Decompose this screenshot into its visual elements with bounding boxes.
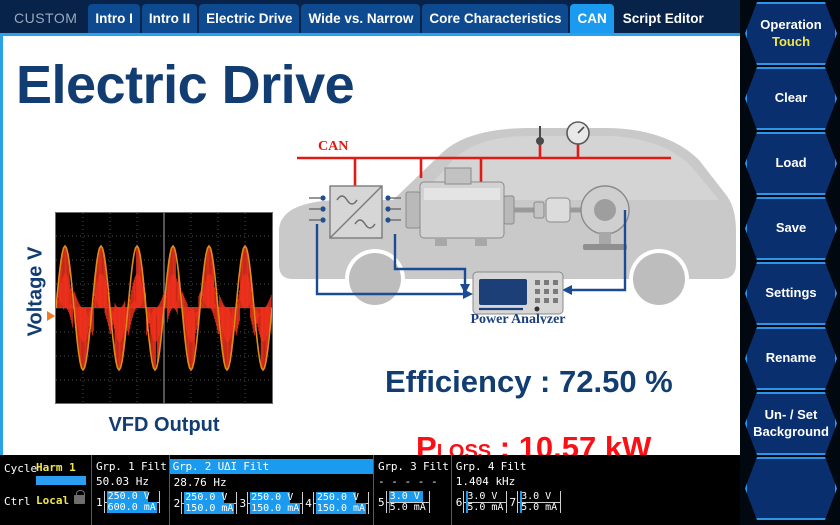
softkey-clear[interactable]: Clear (745, 67, 837, 130)
status-control-column: Cycle Harm 1 Ctrl Local (0, 455, 92, 525)
channel-1-number: 1 (96, 496, 104, 509)
status-bar: Cycle Harm 1 Ctrl Local Grp. 1 Filt 50.0… (0, 455, 740, 525)
tab-intro-i[interactable]: Intro I (88, 4, 140, 34)
softkey-save[interactable]: Save (745, 197, 837, 260)
softkey-settings[interactable]: Settings (745, 262, 837, 325)
softkey-settings-label: Settings (765, 285, 816, 301)
front-wheel-icon (349, 253, 401, 305)
channel-4-bars: 250.0 V 150.0 mA (313, 492, 369, 514)
tab-bar: CUSTOM Intro I Intro II Electric Drive W… (0, 0, 740, 34)
channel-6[interactable]: 6 3.0 V 5.0 mA (456, 491, 508, 513)
channel-2-number: 2 (174, 497, 182, 510)
softkey-operation[interactable]: Operation Touch (745, 2, 837, 65)
ploss-prefix: P (416, 430, 437, 455)
scope-y-axis-label: Voltage V (25, 237, 48, 347)
channel-6-voltage: 3.0 V (466, 491, 504, 502)
channel-3-bars: 250.0 V 150.0 mA (247, 492, 303, 514)
power-analyzer-icon (473, 272, 563, 314)
status-group-3[interactable]: Grp. 3 Filt - - - - - 5 3.0 V 5.0 mA (374, 455, 452, 525)
cycle-value[interactable]: Harm 1 (36, 461, 76, 474)
group-3-header: Grp. 3 Filt (378, 460, 449, 473)
channel-4-number: 4 (305, 497, 313, 510)
group-4-header: Grp. 4 Filt (456, 460, 564, 473)
channel-5-voltage: 3.0 V (389, 491, 427, 502)
scope-waveform-svg (56, 213, 272, 403)
scope-block: Voltage V (11, 208, 281, 448)
softkey-load-label: Load (775, 155, 806, 171)
channel-7-voltage: 3.0 V (520, 491, 558, 502)
channel-3[interactable]: 3 250.0 V 150.0 mA (239, 492, 303, 514)
softkey-set-background[interactable]: Un- / Set Background (745, 392, 837, 455)
group-3-channels: 5 3.0 V 5.0 mA (378, 491, 449, 513)
channel-2-bars: 250.0 V 150.0 mA (181, 492, 237, 514)
tab-wide-vs-narrow[interactable]: Wide vs. Narrow (301, 4, 420, 34)
ctrl-value[interactable]: Local (36, 494, 69, 507)
channel-1[interactable]: 1 250.0 V 600.0 mA (96, 491, 160, 513)
softkey-rename-label: Rename (766, 350, 817, 366)
group-4-frequency: 1.404 kHz (456, 475, 564, 488)
tab-core-characteristics[interactable]: Core Characteristics (422, 4, 568, 34)
channel-6-current: 5.0 mA (466, 502, 504, 513)
softkey-clear-label: Clear (775, 90, 808, 106)
ploss-value: : 10.57 kW (491, 430, 651, 455)
channel-7-current: 5.0 mA (520, 502, 558, 513)
group-1-channels: 1 250.0 V 600.0 mA (96, 491, 167, 513)
group-2-frequency: 28.76 Hz (174, 476, 371, 489)
inverter-icon (330, 186, 382, 238)
softkey-set-background-label2: Background (753, 424, 829, 440)
channel-3-voltage: 250.0 V (250, 492, 300, 503)
channel-2-current: 150.0 mA (184, 503, 234, 514)
softkey-save-label: Save (776, 220, 806, 236)
ctrl-key: Ctrl (4, 494, 36, 508)
cycle-key: Cycle (4, 461, 36, 475)
group-1-header: Grp. 1 Filt (96, 460, 167, 473)
main-canvas: Electric Drive CAN (0, 36, 740, 455)
channel-4[interactable]: 4 250.0 V 150.0 mA (305, 492, 369, 514)
channel-5[interactable]: 5 3.0 V 5.0 mA (378, 491, 430, 513)
cycle-row: Cycle Harm 1 (4, 461, 89, 475)
softkey-empty[interactable] (745, 457, 837, 520)
group-2-channels: 2 250.0 V 150.0 mA 3 250.0 V 150.0 mA 4 (174, 492, 371, 514)
lock-icon[interactable] (74, 495, 85, 504)
cycle-bar (36, 476, 86, 485)
channel-3-current: 150.0 mA (250, 503, 300, 514)
power-analyzer-label: Power Analyzer (471, 312, 566, 324)
channel-7-bars: 3.0 V 5.0 mA (517, 491, 561, 513)
softkey-rename[interactable]: Rename (745, 327, 837, 390)
trigger-marker-icon (47, 311, 55, 321)
custom-label: CUSTOM (0, 10, 88, 34)
group-4-channels: 6 3.0 V 5.0 mA 7 3.0 V 5.0 mA (456, 491, 564, 513)
channel-7[interactable]: 7 3.0 V 5.0 mA (509, 491, 561, 513)
status-group-4[interactable]: Grp. 4 Filt 1.404 kHz 6 3.0 V 5.0 mA 7 3… (452, 455, 566, 525)
softkey-load[interactable]: Load (745, 132, 837, 195)
channel-3-number: 3 (239, 497, 247, 510)
vehicle-diagram-svg: CAN (275, 114, 737, 324)
status-group-2[interactable]: Grp. 2 UΔI Filt 28.76 Hz 2 250.0 V 150.0… (170, 455, 374, 525)
tab-intro-ii[interactable]: Intro II (142, 4, 197, 34)
channel-6-number: 6 (456, 496, 464, 509)
channel-7-number: 7 (509, 496, 517, 509)
rear-wheel-icon (633, 253, 685, 305)
efficiency-readout: Efficiency : 72.50 % (385, 364, 673, 400)
group-1-frequency: 50.03 Hz (96, 475, 167, 488)
ploss-subscript: LOSS (437, 441, 491, 455)
channel-6-bars: 3.0 V 5.0 mA (463, 491, 507, 513)
tab-electric-drive[interactable]: Electric Drive (199, 4, 299, 34)
channel-4-current: 150.0 mA (316, 503, 366, 514)
channel-4-voltage: 250.0 V (316, 492, 366, 503)
channel-1-bars: 250.0 V 600.0 mA (104, 491, 160, 513)
channel-1-voltage: 250.0 V (107, 491, 157, 502)
page-title: Electric Drive (16, 58, 354, 112)
scope-caption: VFD Output (55, 414, 273, 437)
channel-1-current: 600.0 mA (107, 502, 157, 513)
channel-5-number: 5 (378, 496, 386, 509)
application-window: CUSTOM Intro I Intro II Electric Drive W… (0, 0, 840, 525)
softkey-operation-value: Touch (772, 34, 810, 50)
channel-2-voltage: 250.0 V (184, 492, 234, 503)
gauge-icon (567, 122, 589, 144)
channel-2[interactable]: 2 250.0 V 150.0 mA (174, 492, 238, 514)
tab-can[interactable]: CAN (570, 4, 613, 34)
can-label: CAN (318, 139, 348, 154)
power-loss-readout: PLOSS : 10.57 kW (416, 430, 651, 455)
channel-5-bars: 3.0 V 5.0 mA (386, 491, 430, 513)
vehicle-diagram: CAN (275, 114, 737, 324)
tab-script-editor[interactable]: Script Editor (616, 4, 711, 34)
status-group-1[interactable]: Grp. 1 Filt 50.03 Hz 1 250.0 V 600.0 mA (92, 455, 170, 525)
softkey-set-background-label: Un- / Set (765, 407, 818, 423)
group-2-header: Grp. 2 UΔI Filt (170, 459, 373, 474)
scope-display[interactable] (55, 212, 273, 404)
softkey-operation-label: Operation (760, 17, 821, 33)
softkey-panel: Operation Touch Clear Load Save Settings… (740, 0, 840, 525)
channel-5-current: 5.0 mA (389, 502, 427, 513)
group-3-frequency: - - - - - (378, 475, 449, 488)
